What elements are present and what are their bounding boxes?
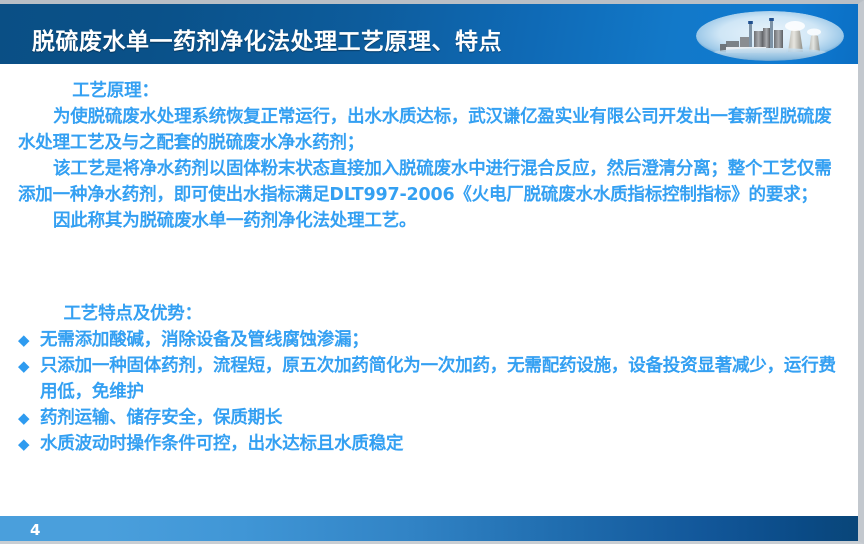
feature-text-1: 无需添加酸碱，消除设备及管线腐蚀渗漏； [40,327,840,353]
presentation-slide: 脱硫废水单一药剂净化法处理工艺原理、特点 [0,0,864,544]
principle-paragraph-1: 为使脱硫废水处理系统恢复正常运行，出水水质达标，武汉谦亿盈实业有限公司开发出一套… [18,104,840,156]
principle-section: 工艺原理： 为使脱硫废水处理系统恢复正常运行，出水水质达标，武汉谦亿盈实业有限公… [18,78,840,234]
feature-text-3: 药剂运输、储存安全，保质期长 [40,405,840,431]
power-plant-photo [696,11,844,61]
slide-content: 工艺原理： 为使脱硫废水处理系统恢复正常运行，出水水质达标，武汉谦亿盈实业有限公… [0,64,858,516]
feature-text-2: 只添加一种固体药剂，流程短，原五次加药简化为一次加药，无需配药设施，设备投资显著… [40,353,840,405]
principle-heading: 工艺原理： [18,78,840,104]
power-plant-illustration [696,11,844,61]
diamond-bullet-icon: ◆ [18,353,40,379]
principle-paragraph-3: 因此称其为脱硫废水单一药剂净化法处理工艺。 [18,208,840,234]
list-item: ◆ 水质波动时操作条件可控，出水达标且水质稳定 [18,431,840,457]
diamond-bullet-icon: ◆ [18,327,40,353]
slide-header-banner: 脱硫废水单一药剂净化法处理工艺原理、特点 [0,4,858,64]
feature-text-4: 水质波动时操作条件可控，出水达标且水质稳定 [40,431,840,457]
principle-paragraph-2: 该工艺是将净水药剂以固体粉末状态直接加入脱硫废水中进行混合反应，然后澄清分离；整… [18,156,840,208]
features-heading: 工艺特点及优势： [18,301,840,327]
slide-footer-bar: 4 [0,516,858,544]
page-title: 脱硫废水单一药剂净化法处理工艺原理、特点 [32,22,502,56]
list-item: ◆ 药剂运输、储存安全，保质期长 [18,405,840,431]
features-section: 工艺特点及优势： ◆ 无需添加酸碱，消除设备及管线腐蚀渗漏； ◆ 只添加一种固体… [18,301,840,457]
list-item: ◆ 只添加一种固体药剂，流程短，原五次加药简化为一次加药，无需配药设施，设备投资… [18,353,840,405]
diamond-bullet-icon: ◆ [18,431,40,457]
page-number: 4 [30,521,40,539]
list-item: ◆ 无需添加酸碱，消除设备及管线腐蚀渗漏； [18,327,840,353]
diamond-bullet-icon: ◆ [18,405,40,431]
